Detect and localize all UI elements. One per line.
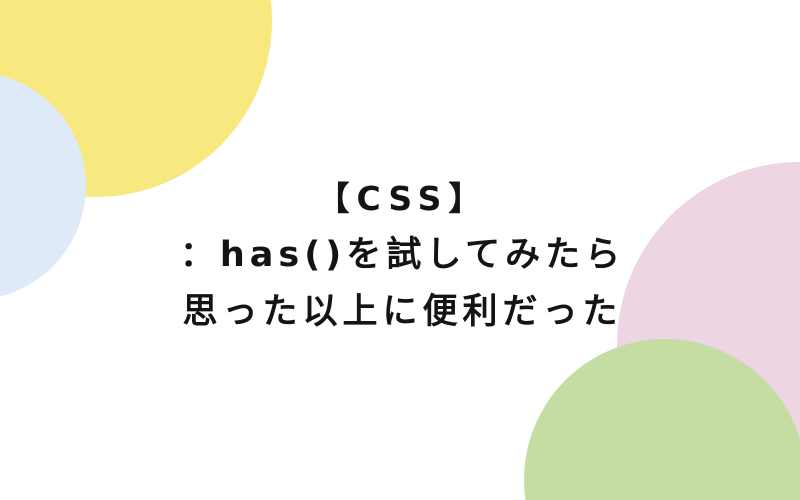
thumbnail-canvas: 【CSS】 ：has()を試してみたら 思った以上に便利だった	[0, 0, 800, 500]
title-line-2: 思った以上に便利だった	[175, 284, 625, 341]
title-line-tag: 【CSS】	[175, 170, 625, 227]
page-title: 【CSS】 ：has()を試してみたら 思った以上に便利だった	[175, 170, 625, 341]
title-container: 【CSS】 ：has()を試してみたら 思った以上に便利だった	[0, 0, 800, 500]
title-line-1: ：has()を試してみたら	[175, 227, 625, 284]
